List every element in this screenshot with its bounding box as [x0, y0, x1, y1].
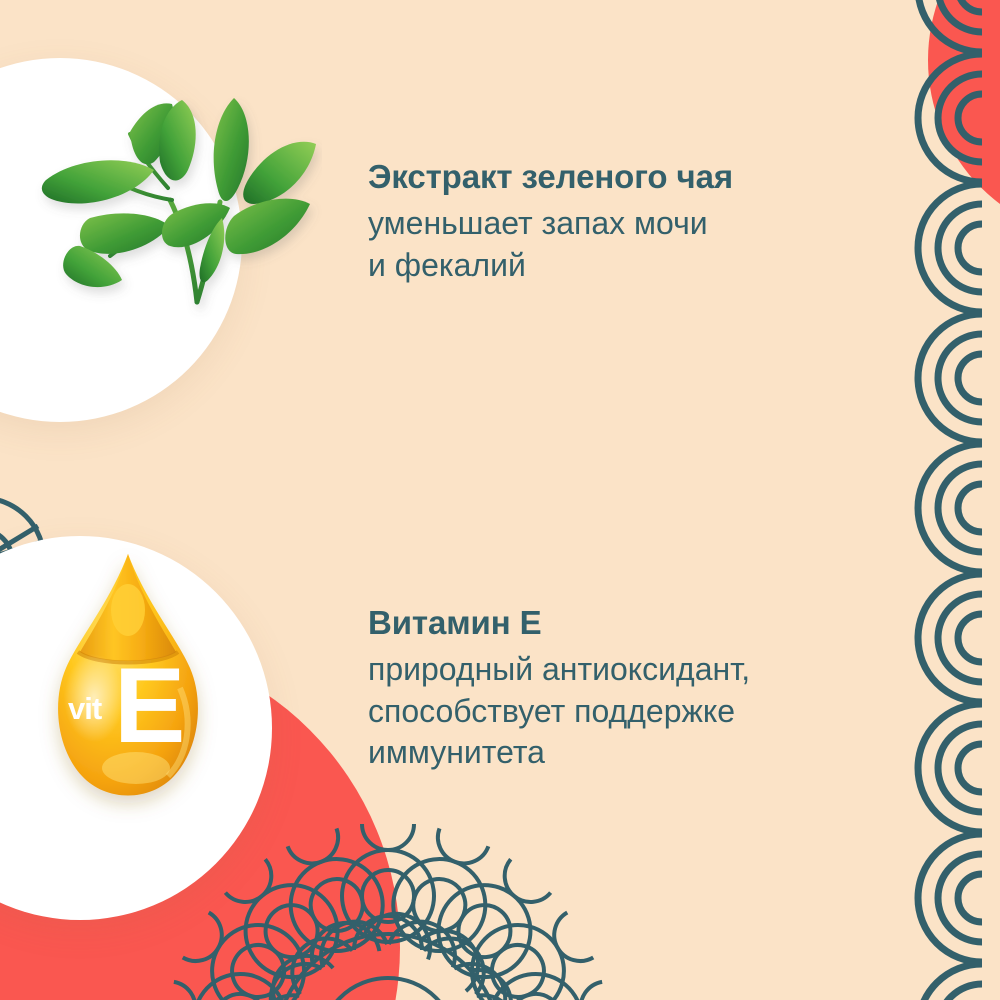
droplet-letter-label: E: [114, 652, 183, 759]
red-circle-top-right: [928, 0, 1000, 240]
vitamin-e-body-line-1: природный антиоксидант,: [368, 649, 750, 691]
vitamin-e-droplet: vit E: [28, 548, 228, 833]
green-tea-heading: Экстракт зеленого чая: [368, 157, 733, 197]
vitamin-e-body-line-2: способствует поддержке: [368, 691, 750, 733]
green-tea-leaves-icon: [22, 70, 322, 320]
droplet-vit-label: vit: [68, 691, 101, 727]
vitamin-e-body-line-3: иммунитета: [368, 732, 750, 774]
green-tea-body-line-2: и фекалий: [368, 245, 733, 287]
text-block-green-tea: Экстракт зеленого чая уменьшает запах мо…: [368, 157, 733, 286]
poster-canvas: vit E Экстракт зеленого чая уменьшает за…: [0, 0, 1000, 1000]
green-tea-body-line-1: уменьшает запах мочи: [368, 203, 733, 245]
vitamin-e-heading: Витамин Е: [368, 603, 750, 643]
text-block-vitamin-e: Витамин Е природный антиоксидант, способ…: [368, 603, 750, 774]
